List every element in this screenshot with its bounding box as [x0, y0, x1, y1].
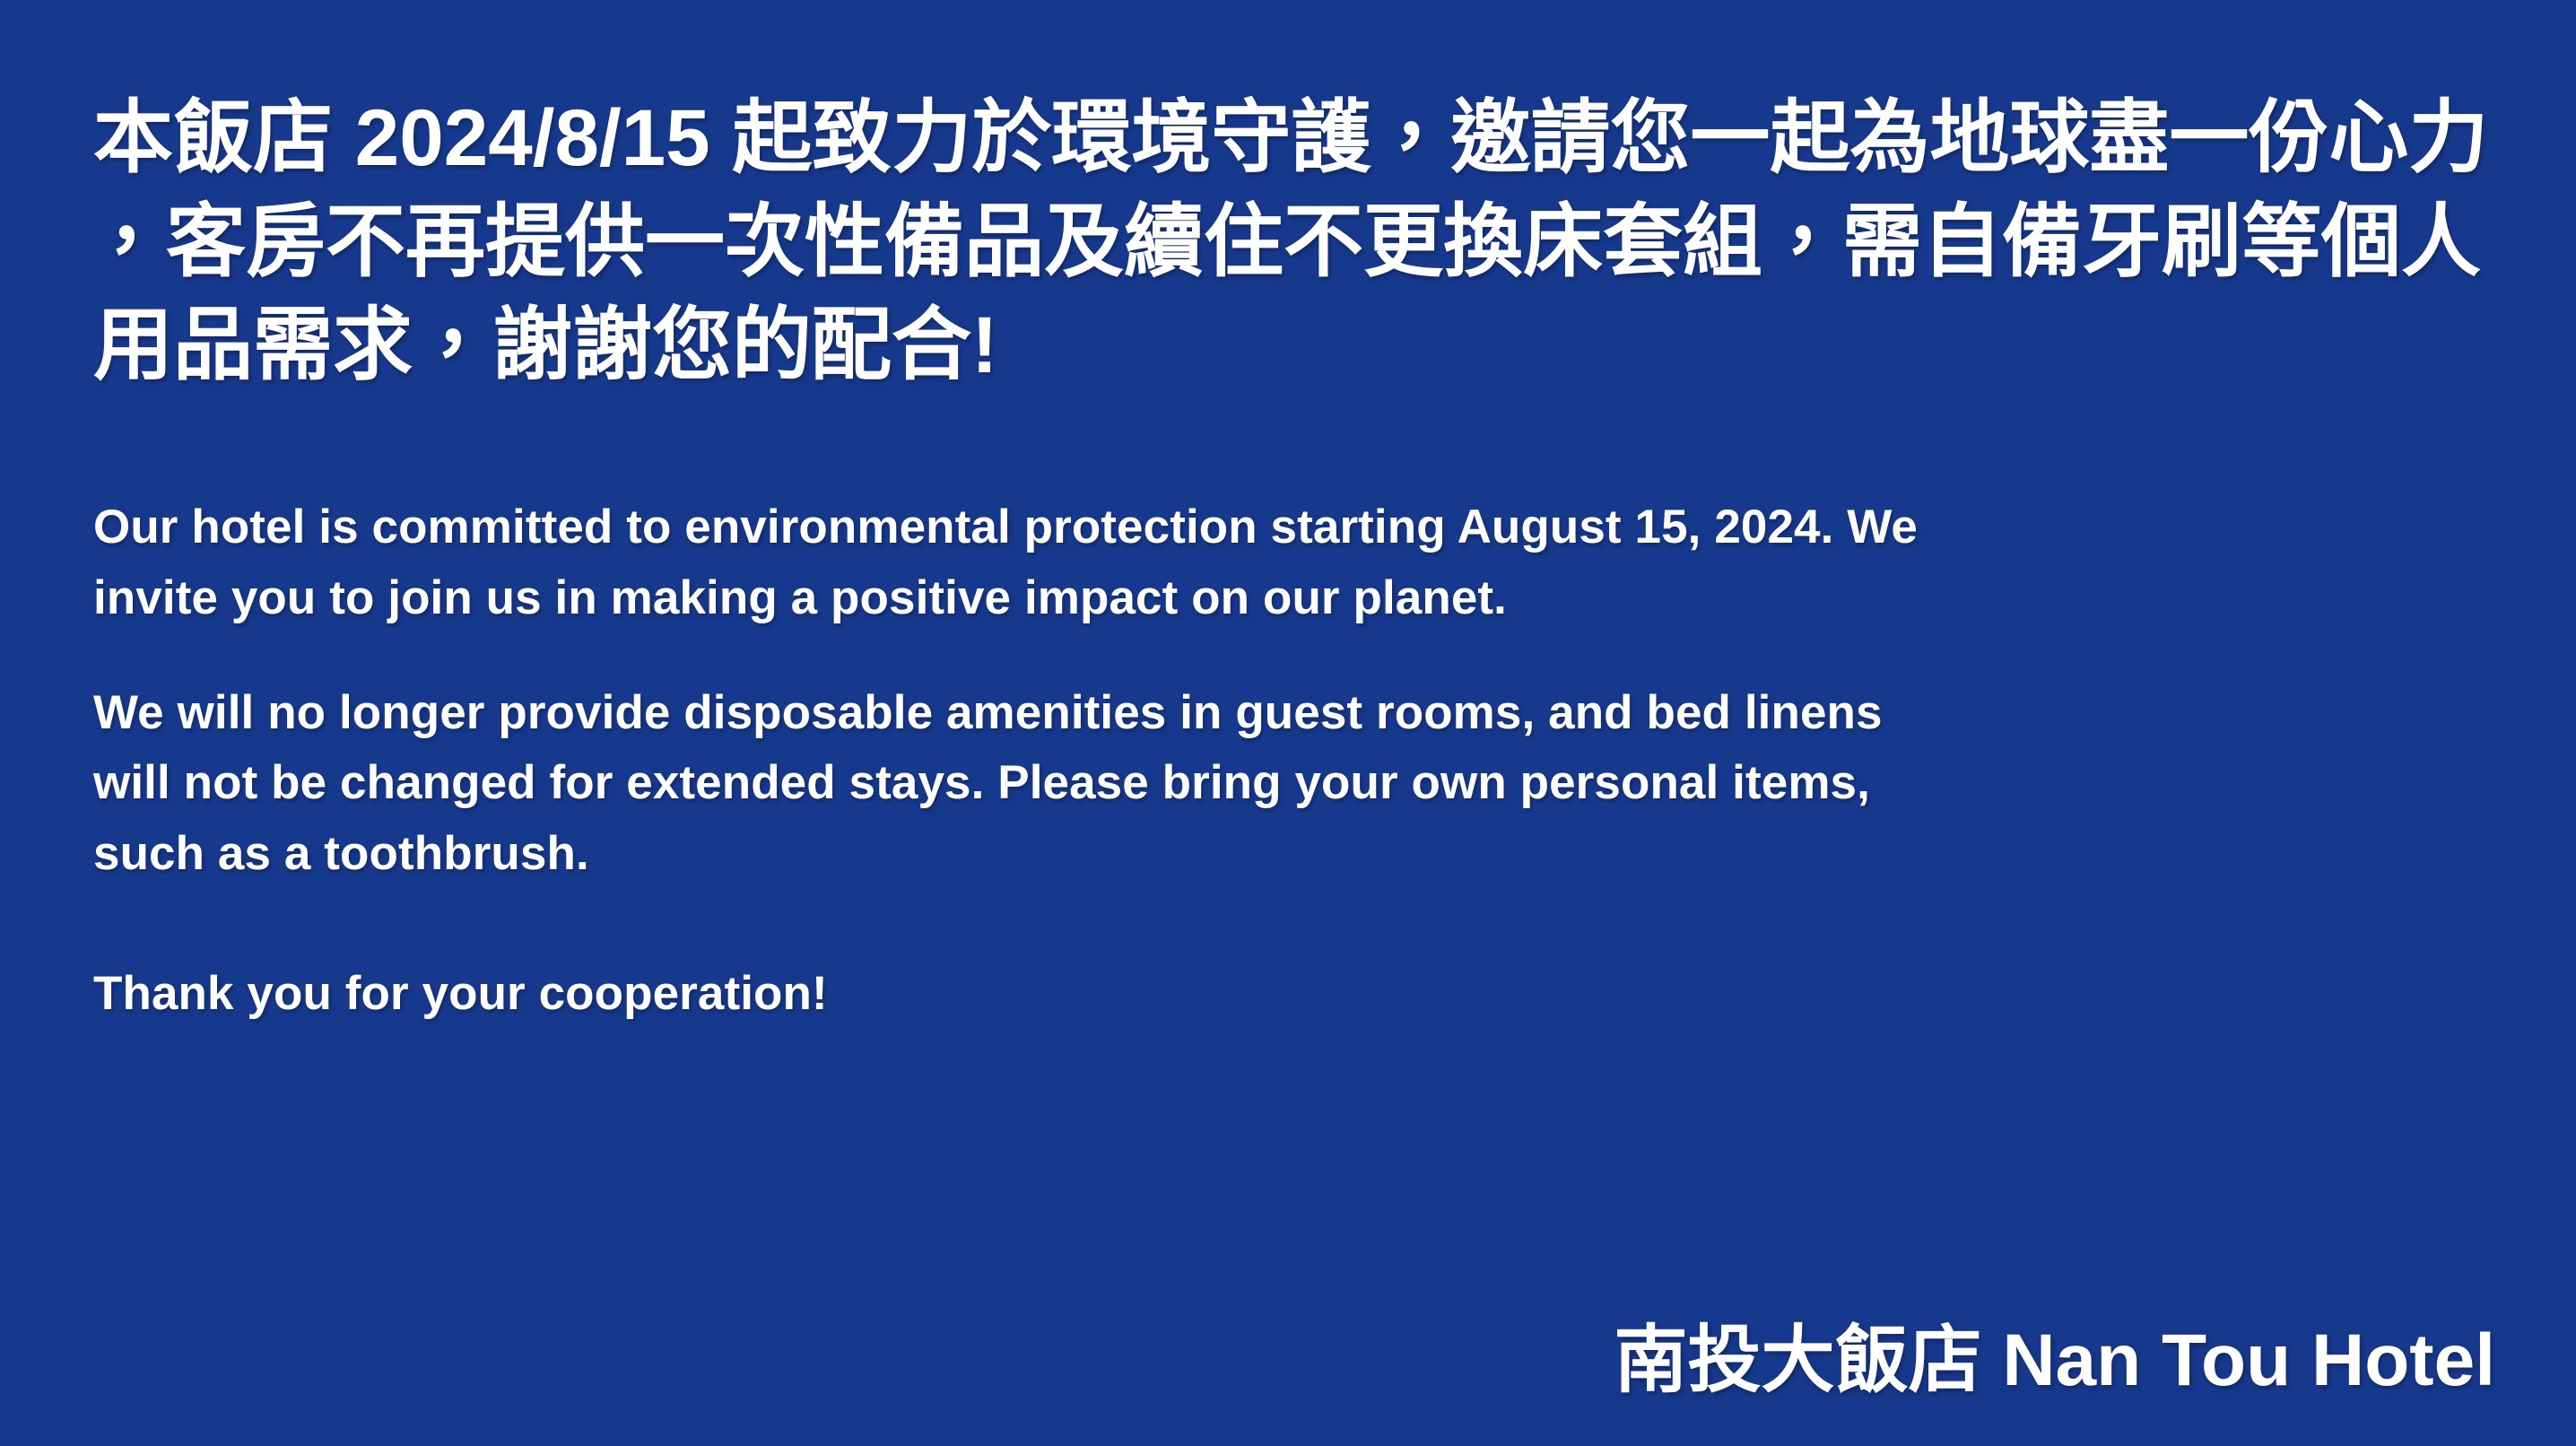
closing-text: Thank you for your cooperation! [93, 959, 2490, 1029]
hotel-name-separator [1982, 1320, 2003, 1401]
notice-content: 本飯店 2024/8/15 起致力於環境守護，邀請您一起為地球盡一份心力 ，客房… [93, 86, 2490, 1030]
english-paragraph-2: We will no longer provide disposable ame… [93, 678, 2490, 889]
chinese-announcement: 本飯店 2024/8/15 起致力於環境守護，邀請您一起為地球盡一份心力 ，客房… [93, 86, 2490, 397]
notice-board: 本飯店 2024/8/15 起致力於環境守護，邀請您一起為地球盡一份心力 ，客房… [0, 0, 2576, 1446]
english-paragraph-1: Our hotel is committed to environmental … [93, 492, 2490, 633]
chinese-line-2: ，客房不再提供一次性備品及續住不更換床套組，需自備牙刷等個人 [93, 190, 2490, 294]
hotel-signature: 南投大飯店 Nan Tou Hotel [1614, 1319, 2495, 1403]
english-closing-line: Thank you for your cooperation! [93, 959, 2490, 1029]
hotel-name-english: Nan Tou Hotel [2002, 1320, 2495, 1401]
chinese-line-3: 用品需求，謝謝您的配合! [93, 293, 2490, 397]
hotel-name-chinese: 南投大飯店 [1614, 1320, 1982, 1401]
spacer-before-closing [93, 889, 2490, 959]
spacer-chinese-english [93, 397, 2490, 492]
chinese-line-1: 本飯店 2024/8/15 起致力於環境守護，邀請您一起為地球盡一份心力 [93, 86, 2490, 190]
english-p1-line-2: invite you to join us in making a positi… [93, 563, 2490, 633]
english-p2-line-2: will not be changed for extended stays. … [93, 748, 2490, 818]
english-p1-line-1: Our hotel is committed to environmental … [93, 492, 2490, 562]
english-p2-line-1: We will no longer provide disposable ame… [93, 678, 2490, 748]
english-p2-line-3: such as a toothbrush. [93, 819, 2490, 889]
